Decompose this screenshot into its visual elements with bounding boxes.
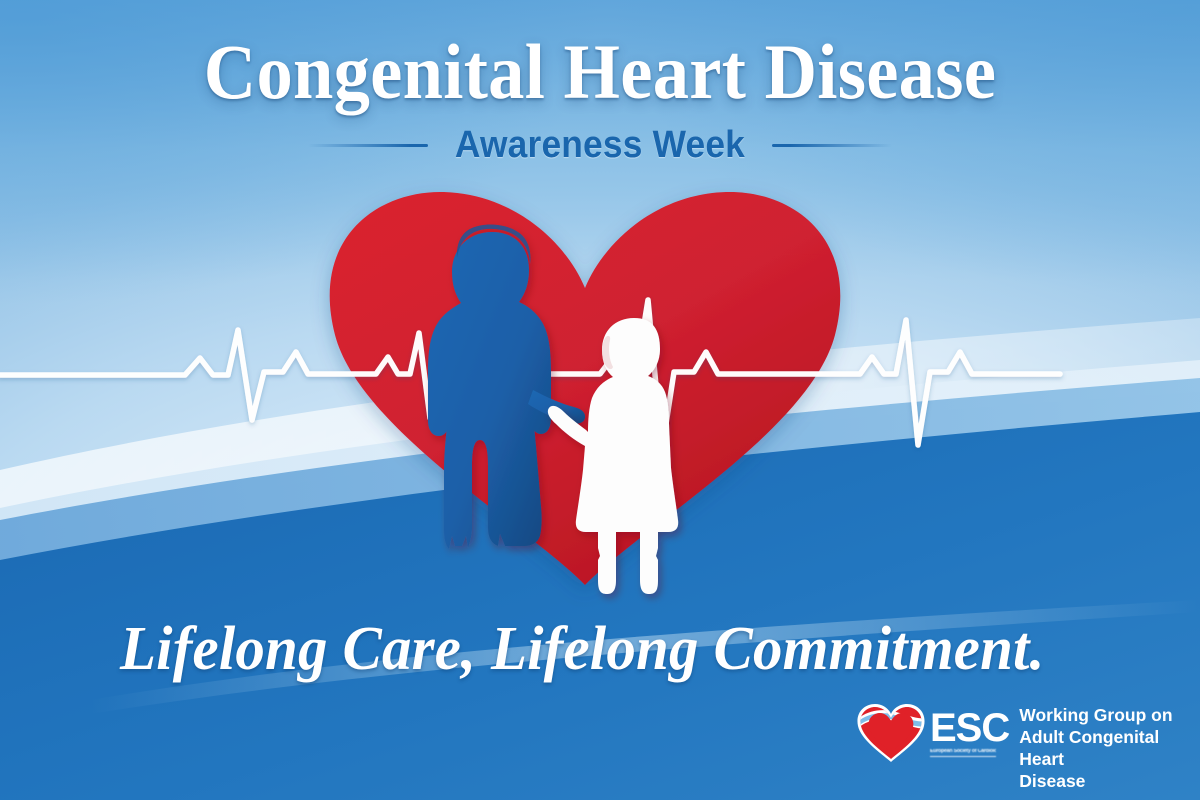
- esc-subtitle: European Society of Cardiology: [930, 749, 996, 756]
- subtitle-rule-left: [308, 144, 428, 147]
- tagline: Lifelong Care, Lifelong Commitment.: [120, 614, 1044, 685]
- subtitle-row: Awareness Week: [0, 124, 1200, 167]
- esc-heart-icon: [856, 702, 926, 764]
- esc-logo-lockup[interactable]: ESC European Society of Cardiology Worki…: [856, 702, 1200, 792]
- poster-canvas: Congenital Heart Disease Awareness Week: [0, 0, 1200, 800]
- working-group-label: Working Group on Adult Congenital Heart …: [1019, 704, 1200, 792]
- esc-wordmark: ESC European Society of Cardiology: [930, 709, 1009, 756]
- page-title: Congenital Heart Disease: [42, 34, 1158, 110]
- page-subtitle: Awareness Week: [455, 124, 745, 167]
- title-block: Congenital Heart Disease Awareness Week: [0, 34, 1200, 167]
- esc-mark[interactable]: ESC European Society of Cardiology: [856, 702, 1009, 764]
- esc-letters: ESC: [930, 709, 1009, 747]
- subtitle-rule-right: [772, 144, 892, 147]
